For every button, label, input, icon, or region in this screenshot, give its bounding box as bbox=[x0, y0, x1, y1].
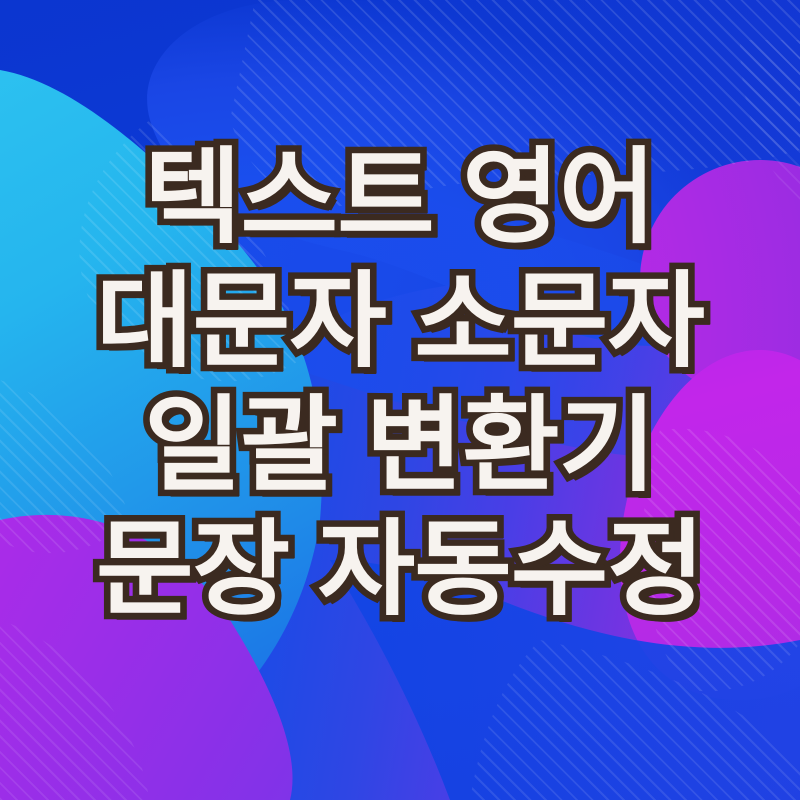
headline-line-3: 일괄 변환기 bbox=[144, 384, 655, 508]
headline-line-4: 문장 자동수정 bbox=[96, 508, 704, 632]
poster-canvas: 텍스트 영어 대문자 소문자 일괄 변환기 문장 자동수정 bbox=[0, 0, 800, 800]
headline-block: 텍스트 영어 대문자 소문자 일괄 변환기 문장 자동수정 bbox=[0, 136, 800, 632]
headline-line-2: 대문자 소문자 bbox=[96, 260, 704, 384]
headline-line-1: 텍스트 영어 bbox=[144, 136, 655, 260]
